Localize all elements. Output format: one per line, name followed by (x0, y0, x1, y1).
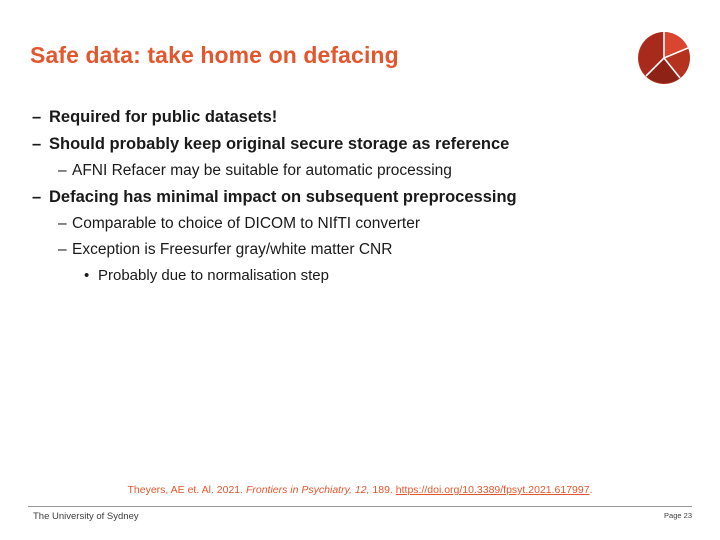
citation: Theyers, AE et. Al. 2021. Frontiers in P… (0, 484, 720, 496)
footer-divider (28, 506, 692, 507)
bullet-marker-icon: • (84, 267, 98, 284)
footer-page-number: Page 23 (664, 511, 692, 520)
bullet-marker-icon: – (58, 241, 72, 259)
citation-end: . (590, 484, 593, 496)
bullet-text: Should probably keep original secure sto… (49, 135, 692, 154)
bullet-item: – Comparable to choice of DICOM to NIfTI… (28, 215, 692, 233)
bullet-item: – Should probably keep original secure s… (28, 135, 692, 154)
bullet-text: Comparable to choice of DICOM to NIfTI c… (72, 215, 692, 233)
bullet-item: • Probably due to normalisation step (28, 267, 692, 284)
bullet-marker-icon: – (58, 162, 72, 180)
bullet-text: AFNI Refacer may be suitable for automat… (72, 162, 692, 180)
footer-institution: The University of Sydney (33, 511, 139, 522)
bullet-list: – Required for public datasets! – Should… (28, 108, 692, 292)
citation-doi-link[interactable]: https://doi.org/10.3389/fpsyt.2021.61799… (396, 484, 590, 496)
bullet-marker-icon: – (32, 135, 49, 154)
bullet-marker-icon: – (58, 215, 72, 233)
bullet-item: – Required for public datasets! (28, 108, 692, 127)
bullet-text: Probably due to normalisation step (98, 267, 692, 284)
bullet-item: – AFNI Refacer may be suitable for autom… (28, 162, 692, 180)
citation-authors: Theyers, AE et. Al. 2021. (127, 484, 245, 496)
bullet-marker-icon: – (32, 108, 49, 127)
bullet-marker-icon: – (32, 188, 49, 207)
bullet-text: Required for public datasets! (49, 108, 692, 127)
slide: Safe data: take home on defacing – Requi… (0, 0, 720, 540)
page-title: Safe data: take home on defacing (30, 42, 399, 69)
bullet-item: – Exception is Freesurfer gray/white mat… (28, 241, 692, 259)
citation-journal: Frontiers in Psychiatry, 12, (246, 484, 370, 496)
bullet-text: Exception is Freesurfer gray/white matte… (72, 241, 692, 259)
bullet-text: Defacing has minimal impact on subsequen… (49, 188, 692, 207)
university-of-sydney-shield-logo (636, 30, 692, 86)
citation-pages: 189. (369, 484, 395, 496)
bullet-item: – Defacing has minimal impact on subsequ… (28, 188, 692, 207)
